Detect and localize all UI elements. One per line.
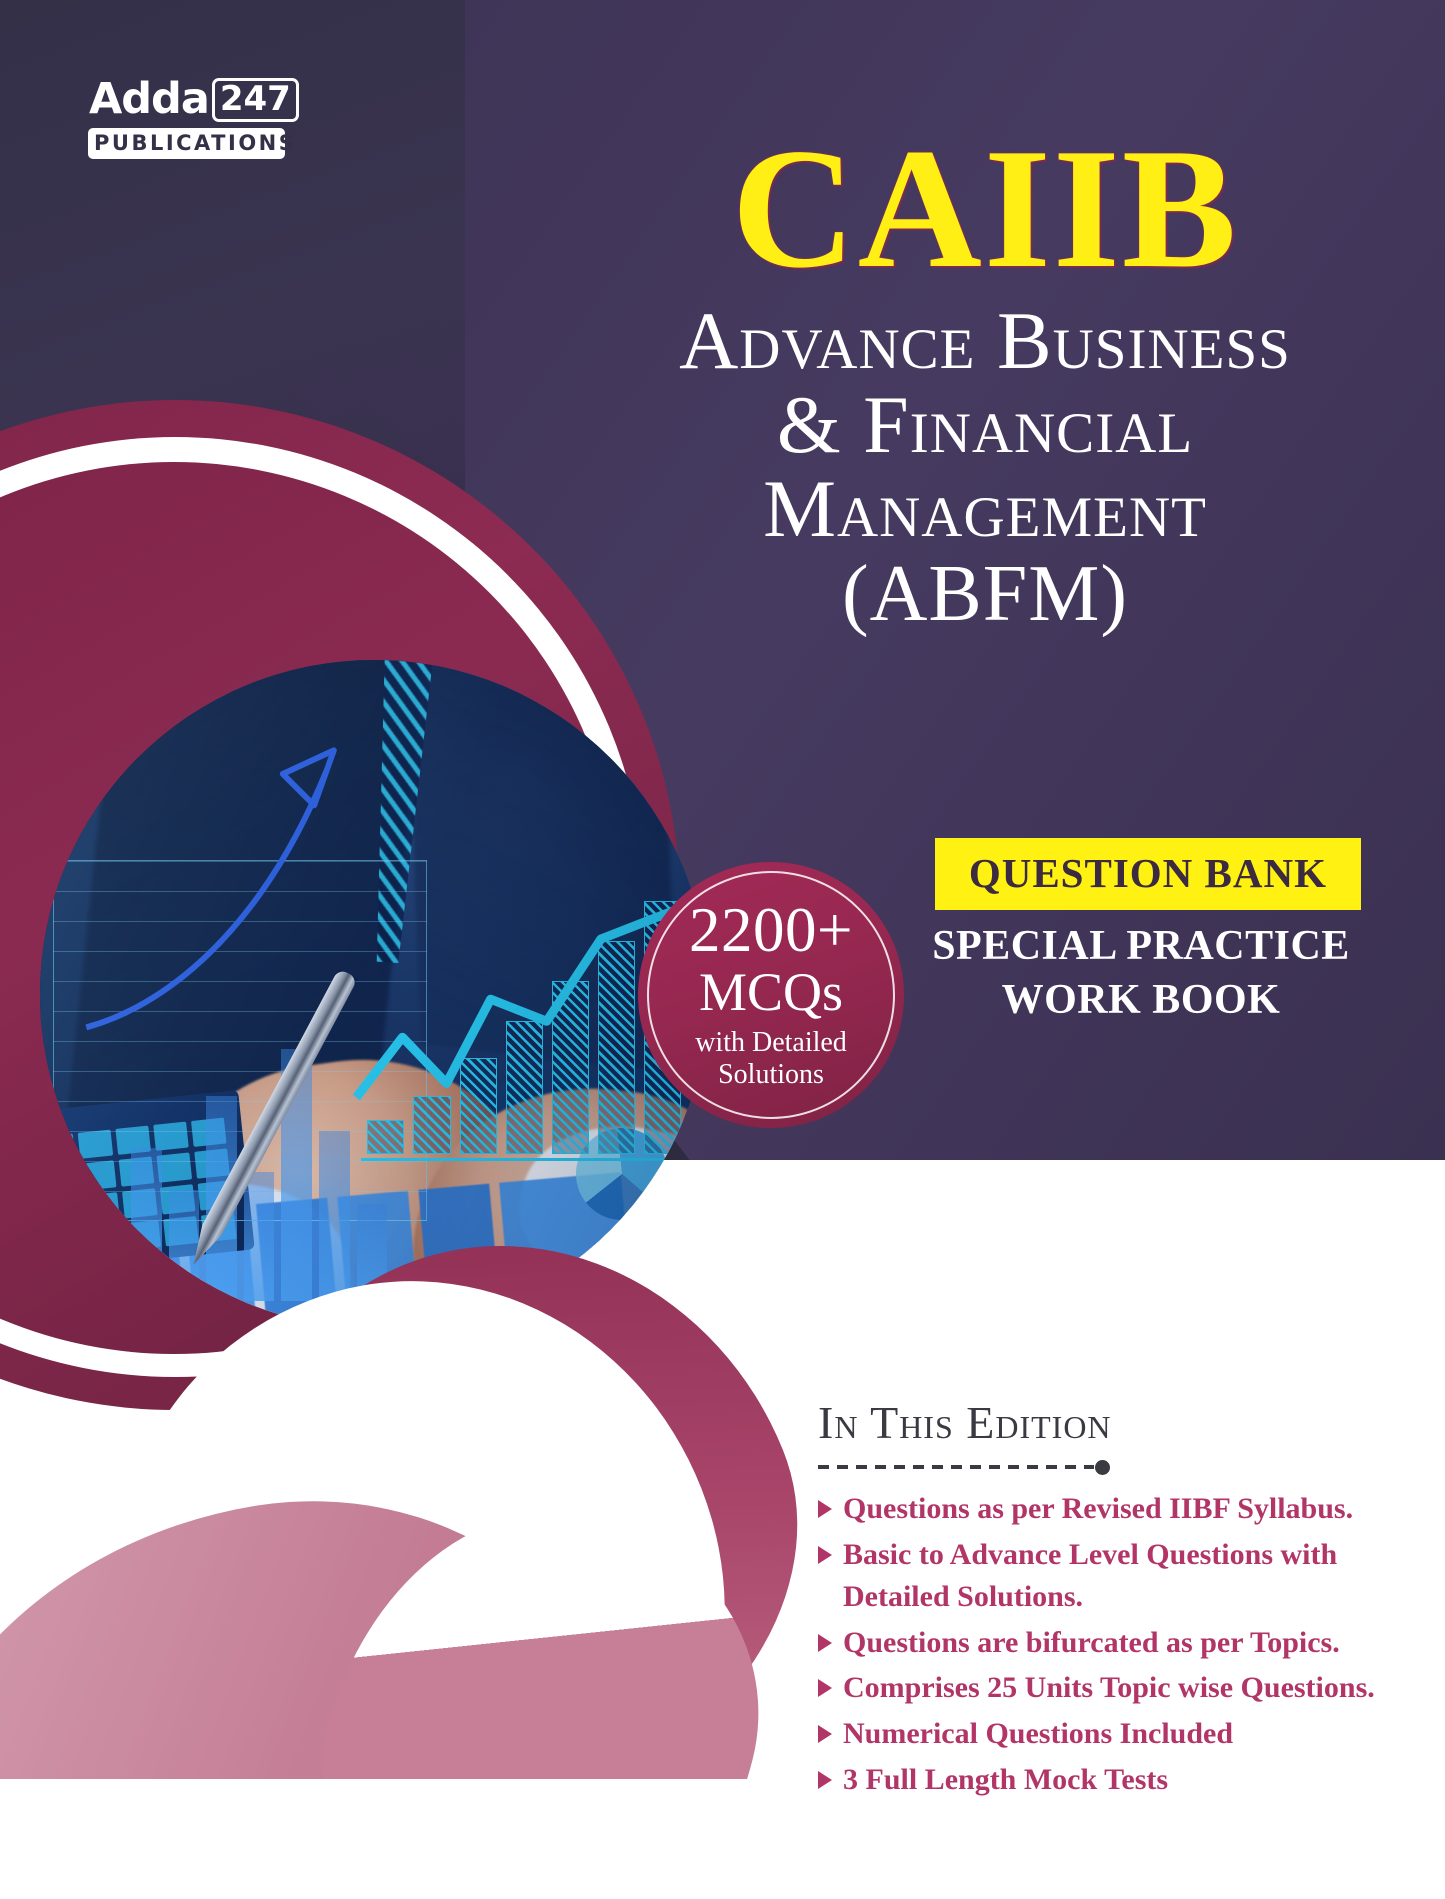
edition-divider	[818, 1460, 1110, 1474]
bullet-triangle-icon	[818, 1725, 832, 1743]
list-item: Questions as per Revised IIBF Syllabus.	[818, 1488, 1378, 1531]
subject-abbreviation: (ABFM)	[595, 552, 1375, 636]
list-item: Basic to Advance Level Questions with De…	[818, 1534, 1378, 1619]
mcq-detail-line-2: Solutions	[718, 1059, 824, 1091]
list-item: 3 Full Length Mock Tests	[818, 1759, 1378, 1802]
list-item-text: Numerical Questions Included	[843, 1713, 1233, 1756]
in-this-edition-heading: In This Edition	[818, 1400, 1378, 1446]
bullet-triangle-icon	[818, 1634, 832, 1652]
list-item-text: Comprises 25 Units Topic wise Questions.	[843, 1667, 1375, 1710]
logo-name-text: Adda	[89, 78, 209, 121]
subject-line-2: & Financial	[595, 383, 1375, 467]
mcq-count-badge: 2200+ MCQs with Detailed Solutions	[638, 862, 904, 1128]
bullet-triangle-icon	[818, 1679, 832, 1697]
list-item: Numerical Questions Included	[818, 1713, 1378, 1756]
logo-wordmark: Adda 247	[88, 78, 288, 122]
publisher-logo[interactable]: Adda 247 PUBLICATIONS	[88, 78, 288, 159]
book-cover: Adda 247 PUBLICATIONS CAIIB Advance Busi…	[0, 0, 1445, 1899]
photo-sheen-overlay	[40, 660, 708, 1328]
list-item: Questions are bifurcated as per Topics.	[818, 1622, 1378, 1665]
mcq-label: MCQs	[699, 964, 843, 1021]
bullet-triangle-icon	[818, 1500, 832, 1518]
special-practice-label: SPECIAL PRACTICE WORK BOOK	[921, 920, 1361, 1028]
in-this-edition-section: In This Edition Questions as per Revised…	[818, 1400, 1378, 1804]
subject-line-1: Advance Business	[595, 299, 1375, 383]
list-item-text: 3 Full Length Mock Tests	[843, 1759, 1168, 1802]
title-block: CAIIB Advance Business & Financial Manag…	[595, 128, 1375, 636]
cover-photo	[40, 660, 708, 1328]
edition-feature-list: Questions as per Revised IIBF Syllabus. …	[818, 1488, 1378, 1801]
subject-line-3: Management	[595, 467, 1375, 551]
edition-divider-dot	[1095, 1460, 1110, 1475]
special-practice-line-2: WORK BOOK	[921, 974, 1361, 1028]
logo-publications-label: PUBLICATIONS	[88, 128, 285, 159]
special-practice-line-1: SPECIAL PRACTICE	[921, 920, 1361, 974]
list-item: Comprises 25 Units Topic wise Questions.	[818, 1667, 1378, 1710]
mcq-count-number: 2200+	[689, 899, 853, 962]
bullet-triangle-icon	[818, 1771, 832, 1789]
exam-title: CAIIB	[595, 128, 1375, 291]
list-item-text: Questions as per Revised IIBF Syllabus.	[843, 1488, 1353, 1531]
list-item-text: Questions are bifurcated as per Topics.	[843, 1622, 1340, 1665]
edition-divider-dashes	[818, 1465, 1094, 1469]
subject-title: Advance Business & Financial Management	[595, 299, 1375, 550]
bullet-triangle-icon	[818, 1546, 832, 1564]
list-item-text: Basic to Advance Level Questions with De…	[843, 1534, 1378, 1619]
mcq-detail-line-1: with Detailed	[695, 1027, 847, 1059]
question-bank-badge: QUESTION BANK	[935, 838, 1361, 910]
logo-number-text: 247	[212, 78, 299, 122]
